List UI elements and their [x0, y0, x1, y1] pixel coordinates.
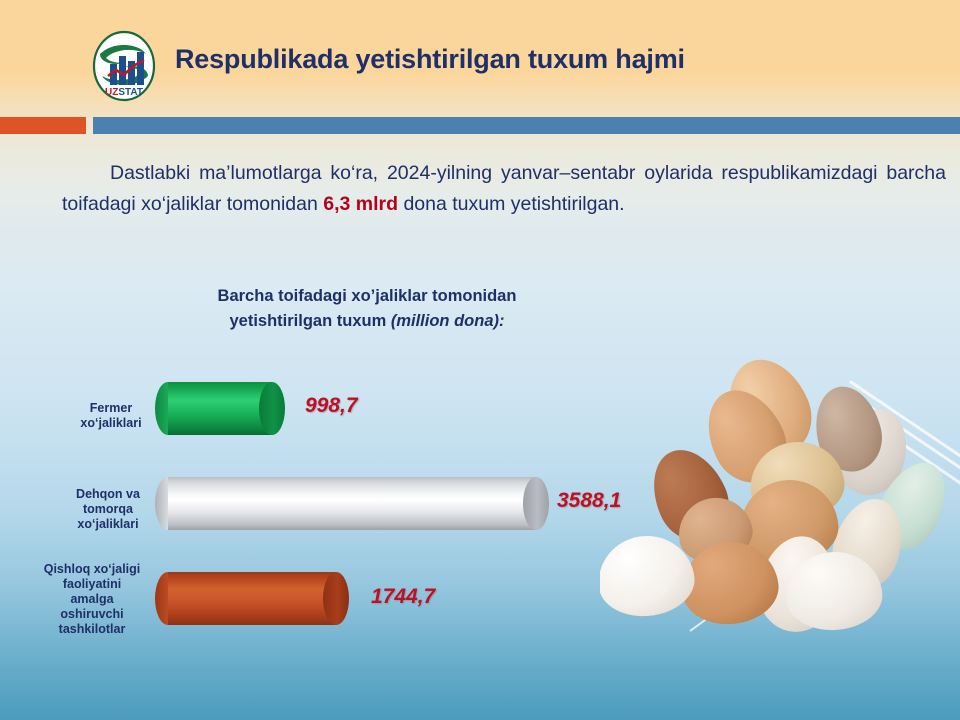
bar-3-body — [168, 572, 336, 625]
bar-1-right-cap — [259, 382, 285, 435]
bar-label-2: Dehqon va tomorqa xo‘jaliklari — [52, 487, 164, 532]
bar-3-right-cap — [323, 572, 349, 625]
paragraph-highlight: 6,3 mlrd — [323, 193, 398, 215]
bar-2 — [168, 477, 549, 530]
bar-label-3-line1: Qishloq xo‘jaligi — [44, 562, 141, 576]
bar-label-3-line4: oshiruvchi — [60, 607, 123, 621]
chart-unit-label: (million dona): — [391, 312, 505, 330]
bar-3 — [168, 572, 349, 625]
bar-label-2-line2: tomorqa — [83, 502, 133, 516]
bar-label-3-line5: tashkilotlar — [59, 622, 126, 636]
bar-value-3: 1744,7 — [371, 585, 435, 609]
bar-label-2-line3: xo‘jaliklari — [77, 517, 138, 531]
bar-label-2-line1: Dehqon va — [76, 487, 140, 501]
bar-1 — [168, 382, 285, 435]
chart-title-line1: Barcha toifadagi xo’jaliklar tomonidan — [218, 287, 517, 305]
slide-root: UZSTAT Respublikada yetishtirilgan tuxum… — [0, 0, 960, 720]
bar-1-body — [168, 382, 272, 435]
bar-label-3-line3: amalga — [70, 592, 113, 606]
uzstat-logo-icon: UZSTAT — [88, 30, 160, 102]
svg-text:UZSTAT: UZSTAT — [105, 87, 143, 98]
bar-label-1: Fermer xo‘jaliklari — [58, 401, 164, 431]
intro-paragraph: Dastlabki ma’lumotlarga ko‘ra, 2024-yiln… — [62, 158, 946, 220]
bar-label-1-line1: Fermer — [90, 401, 132, 415]
chart-title: Barcha toifadagi xo’jaliklar tomonidanye… — [152, 284, 582, 334]
page-title: Respublikada yetishtirilgan tuxum hajmi — [175, 44, 685, 75]
bar-label-1-line2: xo‘jaliklari — [80, 416, 141, 430]
bar-value-2: 3588,1 — [557, 489, 621, 513]
chart-title-line2: yetishtirilgan tuxum — [229, 312, 390, 330]
bar-label-3-line2: faoliyatini — [63, 577, 121, 591]
bar-2-body — [168, 477, 536, 530]
eggs-photo — [600, 330, 960, 720]
bar-value-1: 998,7 — [305, 394, 358, 418]
bar-2-right-cap — [523, 477, 549, 530]
separator-orange — [0, 117, 86, 134]
paragraph-text-part2: dona tuxum yetishtirilgan. — [398, 193, 625, 215]
bar-label-3: Qishloq xo‘jaligi faoliyatini amalga osh… — [20, 562, 164, 637]
separator-blue — [93, 117, 960, 134]
